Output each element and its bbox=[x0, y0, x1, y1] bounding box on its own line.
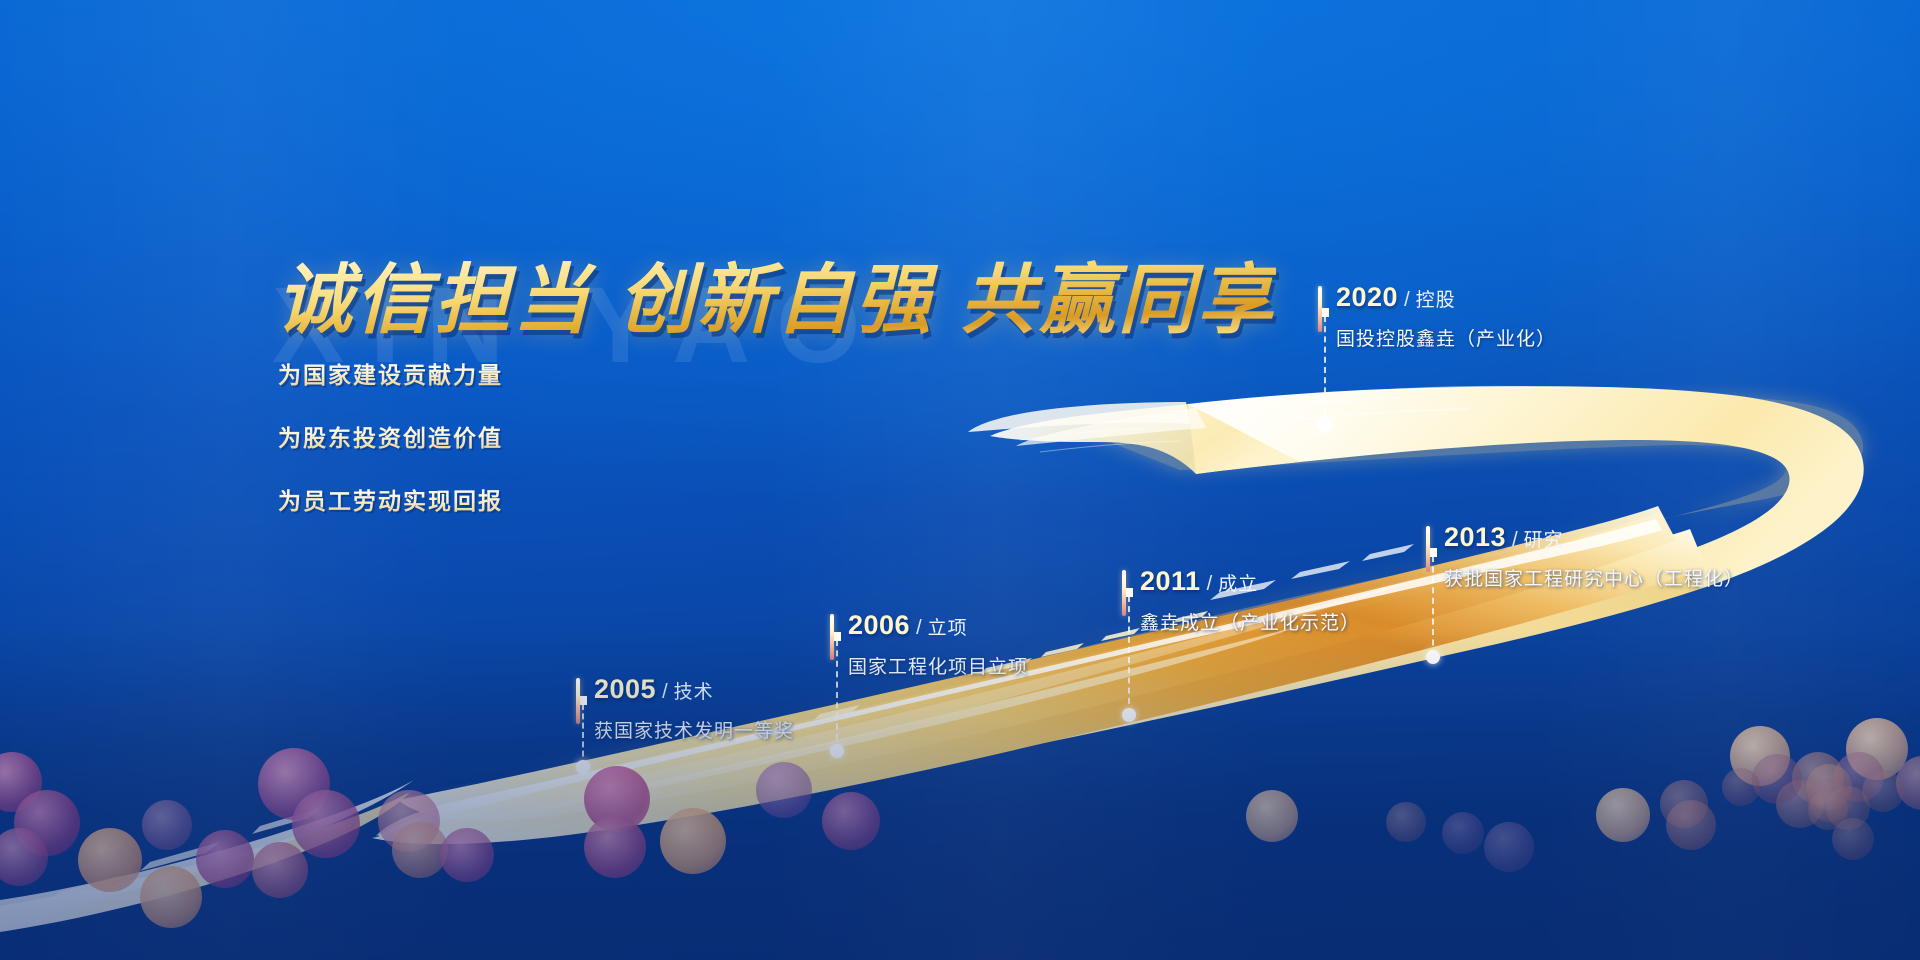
milestone-heading: 2005/技术 bbox=[594, 676, 794, 703]
milestone-heading: 2020/控股 bbox=[1336, 284, 1556, 311]
milestone-heading: 2011/成立 bbox=[1140, 568, 1360, 595]
connector-dot-icon bbox=[1318, 418, 1332, 432]
milestone-2006[interactable]: 2006/立项 国家工程化项目立项 bbox=[830, 612, 1028, 679]
milestone-category: 研究 bbox=[1524, 530, 1564, 551]
milestone-description: 国家工程化项目立项 bbox=[848, 652, 1028, 679]
milestone-separator: / bbox=[1404, 289, 1410, 311]
headline-part-2: 创新自强 bbox=[592, 258, 934, 343]
milestone-description: 国投控股鑫垚（产业化） bbox=[1336, 324, 1556, 351]
milestone-accent-bar bbox=[1122, 570, 1126, 616]
headline-part-1: 诚信担当 bbox=[276, 258, 592, 343]
connector-dot-icon bbox=[830, 744, 844, 758]
milestone-year: 2011 bbox=[1140, 566, 1201, 596]
milestone-description: 获批国家工程研究中心（工程化） bbox=[1444, 564, 1744, 591]
milestone-2005[interactable]: 2005/技术 获国家技术发明一等奖 bbox=[576, 676, 794, 743]
milestone-year: 2020 bbox=[1336, 282, 1398, 312]
page-title: 诚信担当创新自强共赢同享 bbox=[276, 238, 1276, 348]
headline-part-3: 共赢同享 bbox=[934, 258, 1276, 343]
milestone-category: 控股 bbox=[1416, 290, 1456, 311]
milestone-accent-bar bbox=[576, 678, 580, 724]
milestone-separator: / bbox=[916, 617, 922, 639]
connector-dot-icon bbox=[1426, 650, 1440, 664]
milestone-description: 获国家技术发明一等奖 bbox=[594, 716, 794, 743]
milestone-category: 成立 bbox=[1218, 574, 1258, 595]
milestone-separator: / bbox=[1207, 573, 1213, 595]
milestone-separator: / bbox=[1512, 529, 1518, 551]
tagline-item: 为国家建设贡献力量 bbox=[278, 356, 503, 390]
connector-dot-icon bbox=[1122, 708, 1136, 722]
tagline-list: 为国家建设贡献力量 为股东投资创造价值 为员工劳动实现回报 bbox=[278, 356, 503, 545]
milestone-heading: 2013/研究 bbox=[1444, 524, 1744, 551]
milestone-heading: 2006/立项 bbox=[848, 612, 1028, 639]
milestone-year: 2005 bbox=[594, 674, 656, 704]
milestone-description: 鑫垚成立（产业化示范） bbox=[1140, 608, 1360, 635]
milestone-year: 2006 bbox=[848, 610, 910, 640]
milestone-2020[interactable]: 2020/控股 国投控股鑫垚（产业化） bbox=[1318, 284, 1556, 351]
milestone-accent-bar bbox=[1318, 286, 1322, 332]
connector-dot-icon bbox=[576, 760, 590, 774]
milestone-2011[interactable]: 2011/成立 鑫垚成立（产业化示范） bbox=[1122, 568, 1360, 635]
tagline-item: 为股东投资创造价值 bbox=[278, 419, 503, 453]
poster-canvas: XIN YAO 诚信担当创新自强共赢同享 为国家建设贡献力量 为股东投资创造价值… bbox=[0, 0, 1920, 960]
tagline-item: 为员工劳动实现回报 bbox=[278, 482, 503, 516]
milestone-2013[interactable]: 2013/研究 获批国家工程研究中心（工程化） bbox=[1426, 524, 1744, 591]
milestone-separator: / bbox=[662, 681, 668, 703]
ribbon-left-tail bbox=[0, 792, 410, 932]
milestone-year: 2013 bbox=[1444, 522, 1506, 552]
milestone-category: 技术 bbox=[674, 682, 714, 703]
milestone-accent-bar bbox=[830, 614, 834, 660]
milestone-category: 立项 bbox=[928, 618, 968, 639]
milestone-accent-bar bbox=[1426, 526, 1430, 572]
